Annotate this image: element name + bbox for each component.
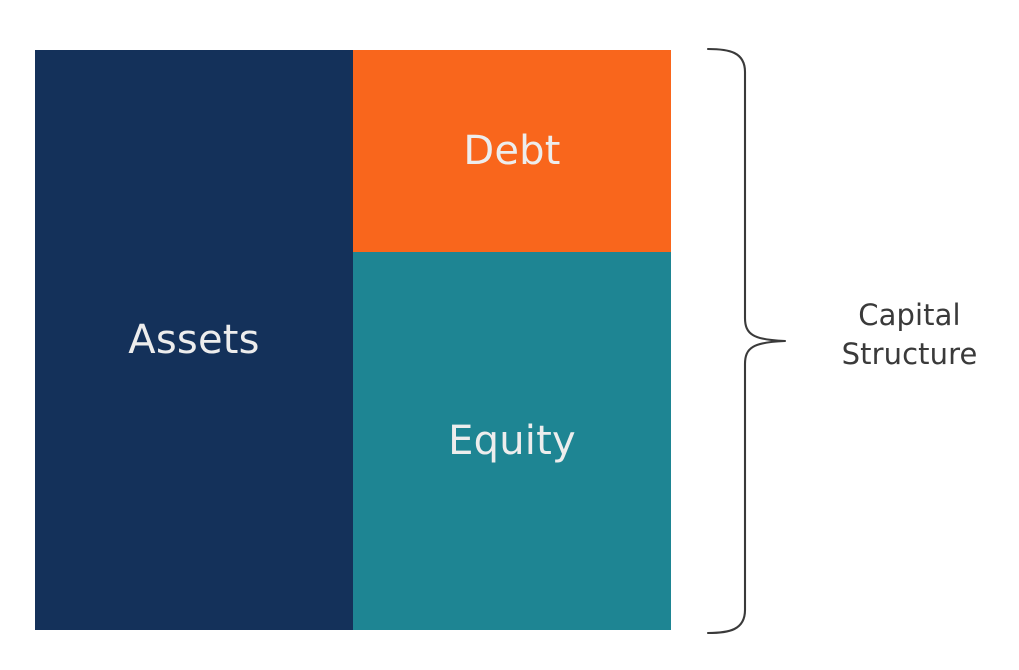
assets-label: Assets bbox=[128, 320, 259, 360]
equity-block: Equity bbox=[353, 252, 671, 630]
debt-block: Debt bbox=[353, 50, 671, 252]
caption-line-1: Capital bbox=[800, 296, 1019, 335]
diagram-canvas: Assets Debt Equity Capital Structure bbox=[0, 0, 1019, 670]
debt-label: Debt bbox=[463, 131, 560, 171]
curly-brace-icon bbox=[695, 38, 800, 644]
capital-structure-caption: Capital Structure bbox=[800, 296, 1019, 375]
equity-label: Equity bbox=[448, 421, 576, 461]
assets-block: Assets bbox=[35, 50, 353, 630]
caption-line-2: Structure bbox=[800, 335, 1019, 374]
capital-structure-brace bbox=[695, 38, 800, 644]
